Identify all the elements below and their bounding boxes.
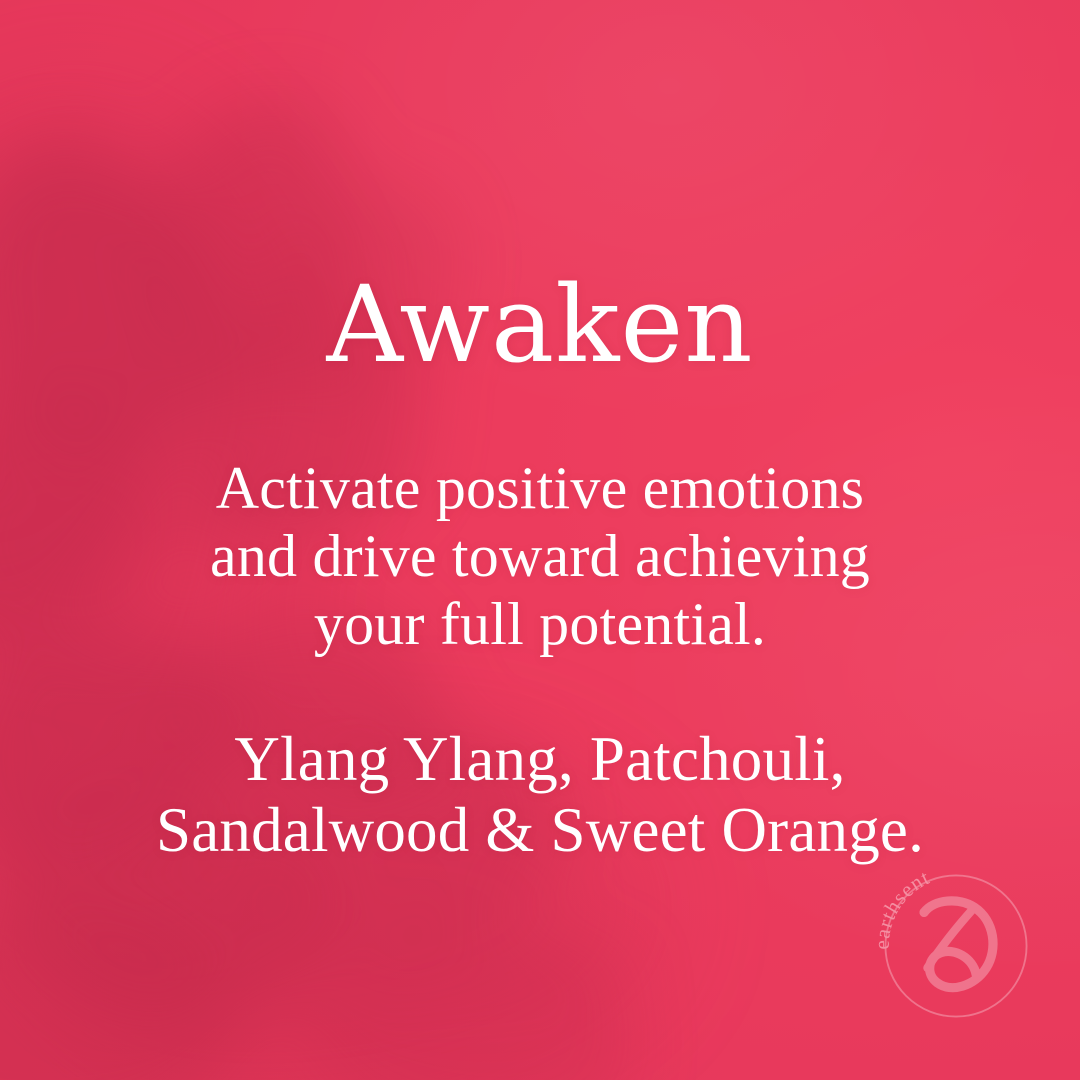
brand-logo-watermark: earthsent <box>872 862 1040 1030</box>
scent-notes-line-1: Ylang Ylang, Patchouli, <box>40 724 1040 795</box>
scent-notes-line-2: Sandalwood & Sweet Orange. <box>40 795 1040 866</box>
description-line-1: Activate positive emotions <box>70 455 1010 523</box>
logo-monogram-icon <box>924 901 993 988</box>
description-line-3: your full potential. <box>70 591 1010 659</box>
scent-notes: Ylang Ylang, Patchouli, Sandalwood & Swe… <box>0 724 1080 866</box>
poster-canvas: Awaken Activate positive emotions and dr… <box>0 0 1080 1080</box>
description-line-2: and drive toward achieving <box>70 523 1010 591</box>
description-paragraph: Activate positive emotions and drive tow… <box>0 455 1080 658</box>
logo-monogram-terminal-icon <box>919 908 928 917</box>
page-title: Awaken <box>0 272 1080 378</box>
